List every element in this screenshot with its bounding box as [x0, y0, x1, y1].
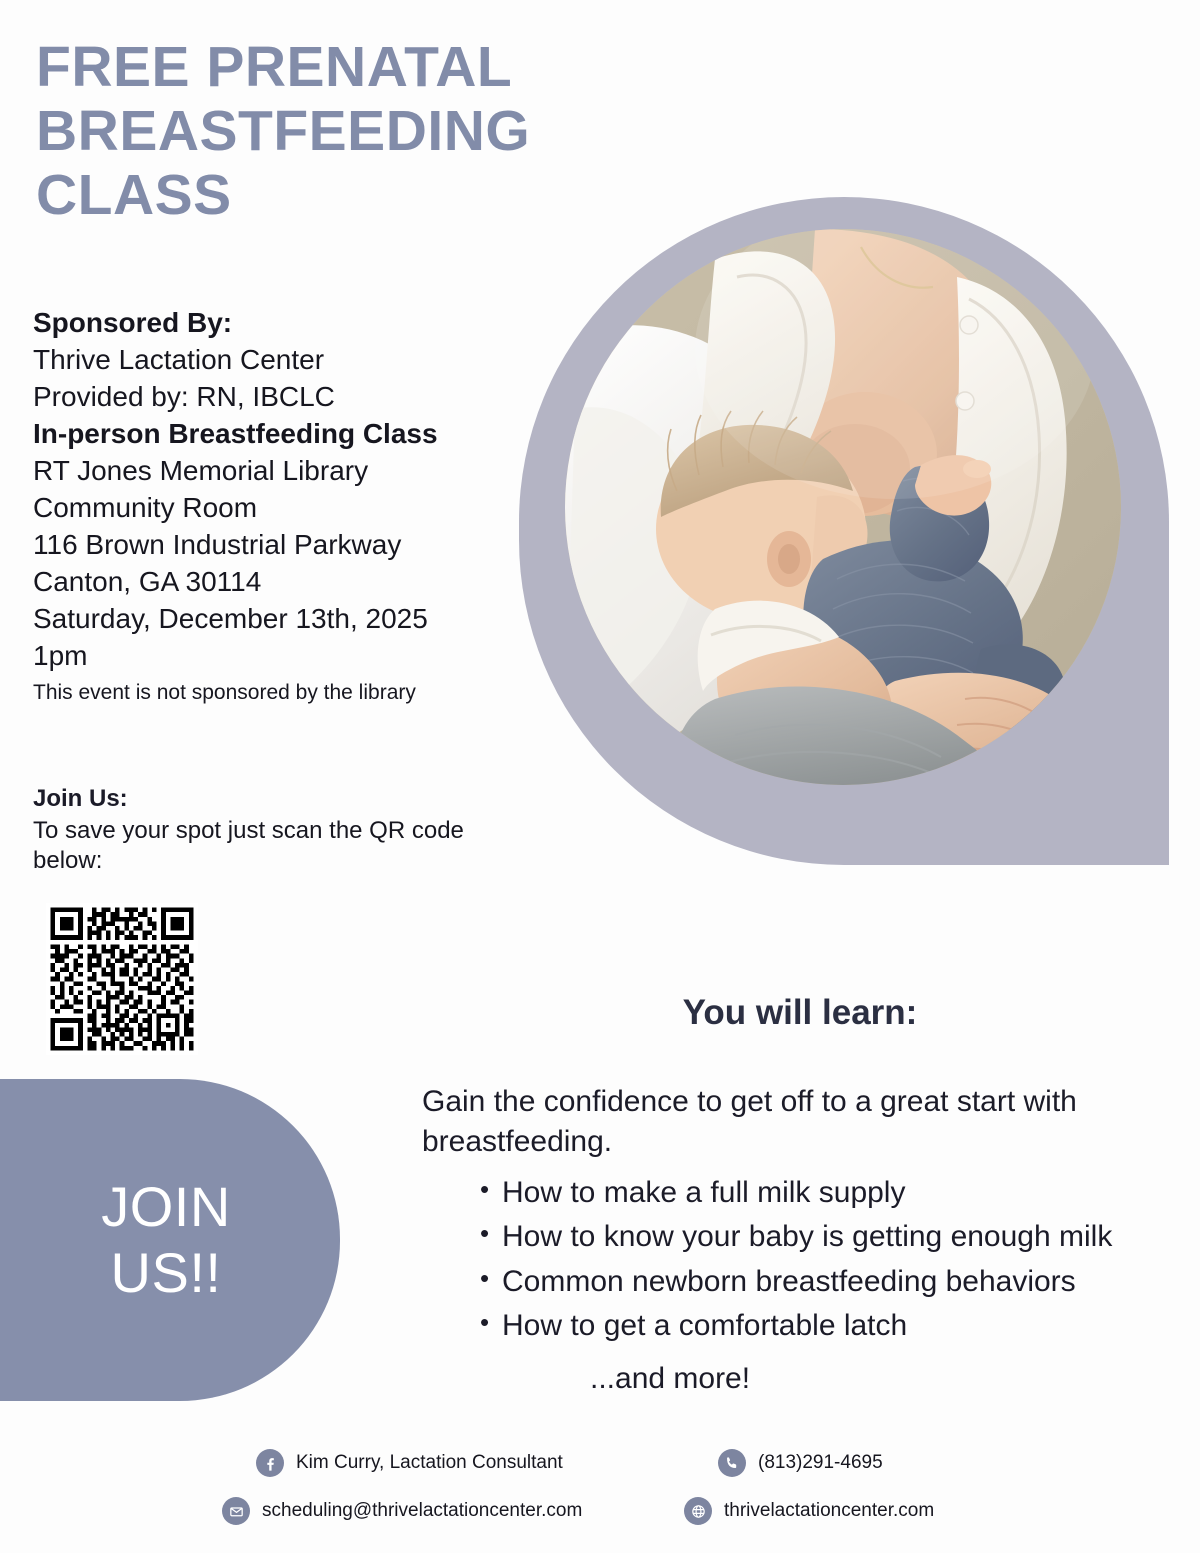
list-item: How to make a full milk supply: [480, 1171, 1200, 1215]
title-line-2: BREASTFEEDING: [36, 100, 596, 164]
email-address: scheduling@thrivelactationcenter.com: [262, 1500, 582, 1522]
join-us-heading: Join Us:: [33, 782, 513, 816]
footer-facebook[interactable]: Kim Curry, Lactation Consultant: [222, 1449, 708, 1477]
event-time: 1pm: [33, 638, 533, 675]
footer-row-1: Kim Curry, Lactation Consultant (813)291…: [222, 1443, 982, 1483]
footer-contact: Kim Curry, Lactation Consultant (813)291…: [222, 1443, 982, 1539]
photo-frame: [519, 197, 1169, 865]
facebook-handle: Kim Curry, Lactation Consultant: [296, 1452, 563, 1474]
photo-circle: [565, 229, 1121, 785]
learn-heading: You will learn:: [420, 993, 1180, 1033]
library-disclaimer: This event is not sponsored by the libra…: [33, 675, 533, 706]
learn-bullet-list: How to make a full milk supply How to kn…: [452, 1171, 1200, 1349]
phone-number: (813)291-4695: [758, 1452, 883, 1474]
learn-intro: Gain the confidence to get off to a grea…: [422, 1082, 1162, 1162]
qr-code[interactable]: [43, 903, 201, 1055]
join-us-badge-line-1: JOIN: [101, 1174, 231, 1240]
class-type: In-person Breastfeeding Class: [33, 416, 533, 453]
qr-instruction-line-2: below:: [33, 846, 513, 877]
footer-row-2: scheduling@thrivelactationcenter.com thr…: [222, 1491, 982, 1531]
venue-city-state-zip: Canton, GA 30114: [33, 564, 533, 601]
breastfeeding-photo: [565, 229, 1121, 785]
join-us-badge-label: JOIN US!!: [39, 1174, 231, 1306]
footer-website[interactable]: thrivelactationcenter.com: [674, 1497, 934, 1525]
event-date: Saturday, December 13th, 2025: [33, 601, 533, 638]
venue-room: Community Room: [33, 490, 533, 527]
list-item: How to get a comfortable latch: [480, 1304, 1200, 1348]
phone-icon: [718, 1449, 746, 1477]
website-url: thrivelactationcenter.com: [724, 1500, 934, 1522]
title-line-1: FREE PRENATAL: [36, 36, 596, 100]
event-details: Sponsored By: Thrive Lactation Center Pr…: [33, 305, 533, 706]
sponsored-by-label: Sponsored By:: [33, 305, 533, 342]
venue-street: 116 Brown Industrial Parkway: [33, 527, 533, 564]
page-title: FREE PRENATAL BREASTFEEDING CLASS: [36, 36, 596, 227]
join-us-block: Join Us: To save your spot just scan the…: [33, 782, 513, 877]
envelope-icon: [222, 1497, 250, 1525]
title-line-3: CLASS: [36, 164, 596, 228]
footer-email[interactable]: scheduling@thrivelactationcenter.com: [222, 1497, 674, 1525]
organization-name: Thrive Lactation Center: [33, 342, 533, 379]
list-item: How to know your baby is getting enough …: [480, 1215, 1200, 1259]
footer-phone[interactable]: (813)291-4695: [708, 1449, 883, 1477]
learn-and-more: ...and more!: [590, 1362, 750, 1396]
globe-icon: [684, 1497, 712, 1525]
list-item: Common newborn breastfeeding behaviors: [480, 1260, 1200, 1304]
provider-credentials: Provided by: RN, IBCLC: [33, 379, 533, 416]
venue-name: RT Jones Memorial Library: [33, 453, 533, 490]
facebook-icon: [256, 1449, 284, 1477]
qr-instruction-line-1: To save your spot just scan the QR code: [33, 816, 513, 847]
qr-code-image: [43, 903, 201, 1055]
join-us-badge[interactable]: JOIN US!!: [0, 1079, 340, 1401]
join-us-badge-line-2: US!!: [101, 1240, 231, 1306]
